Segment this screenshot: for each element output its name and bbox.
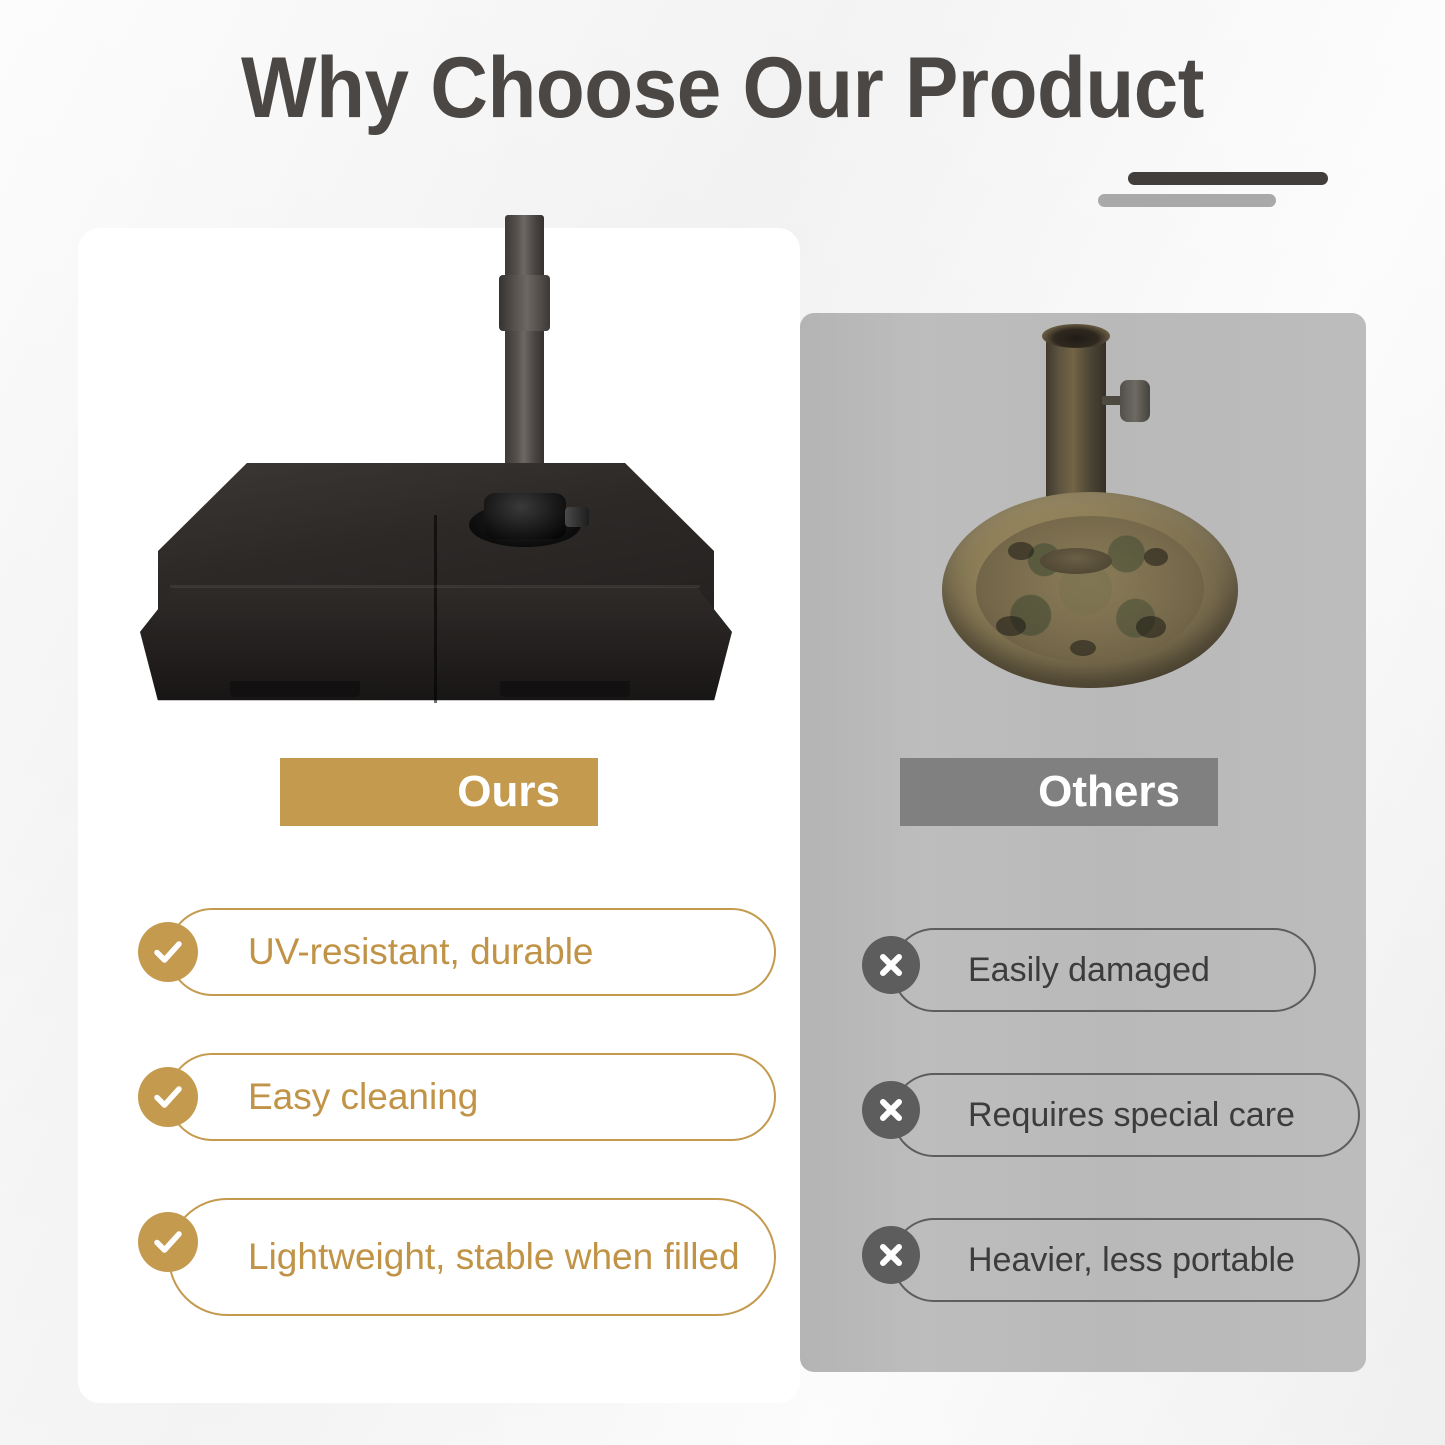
ours-banner-label: Ours	[457, 767, 560, 817]
thumb-screw-knob	[1120, 380, 1150, 422]
others-feature-label: Easily damaged	[968, 950, 1210, 990]
ours-feature-row[interactable]: UV-resistant, durable	[138, 908, 776, 996]
x-icon	[862, 936, 920, 994]
others-banner: Others	[900, 758, 1218, 826]
ours-product-image	[110, 215, 770, 705]
others-feature-row[interactable]: Requires special care	[862, 1073, 1360, 1157]
page-title: Why Choose Our Product	[51, 45, 1395, 131]
check-icon	[138, 1212, 198, 1272]
decorative-bar-dark	[1128, 172, 1328, 185]
ours-feature-label: UV-resistant, durable	[248, 930, 594, 974]
x-icon	[862, 1226, 920, 1284]
base-seam-horizontal	[170, 585, 700, 588]
others-feature-label: Requires special care	[968, 1095, 1295, 1135]
iron-cutout	[996, 616, 1026, 636]
ours-feature-row[interactable]: Easy cleaning	[138, 1053, 776, 1141]
others-product-image	[930, 320, 1250, 710]
others-feature-pill: Easily damaged	[892, 928, 1316, 1012]
x-icon	[862, 1081, 920, 1139]
base-hub-knob	[565, 507, 589, 527]
others-banner-label: Others	[1038, 767, 1180, 817]
cast-iron-floral-pattern	[976, 516, 1204, 662]
base-foot	[500, 681, 630, 697]
base-foot	[230, 681, 360, 697]
iron-tube-foot	[1040, 548, 1112, 574]
title-underline-decoration	[1098, 172, 1328, 218]
header: Why Choose Our Product	[0, 0, 1445, 215]
ours-feature-pill: Easy cleaning	[168, 1053, 776, 1141]
iron-cutout	[1144, 548, 1168, 566]
base-seam-vertical	[434, 515, 437, 703]
others-feature-pill: Requires special care	[892, 1073, 1360, 1157]
ours-feature-pill: UV-resistant, durable	[168, 908, 776, 996]
check-icon	[138, 1067, 198, 1127]
ours-feature-label: Easy cleaning	[248, 1075, 478, 1119]
iron-cutout	[1008, 542, 1034, 560]
ours-feature-label: Lightweight, stable when filled	[248, 1235, 740, 1279]
others-feature-label: Heavier, less portable	[968, 1240, 1295, 1280]
iron-tube-rim	[1042, 324, 1110, 348]
ours-feature-row[interactable]: Lightweight, stable when filled	[138, 1198, 776, 1316]
others-feature-row[interactable]: Easily damaged	[862, 928, 1316, 1012]
check-icon	[138, 922, 198, 982]
base-hub	[484, 493, 566, 539]
others-feature-pill: Heavier, less portable	[892, 1218, 1360, 1302]
others-feature-row[interactable]: Heavier, less portable	[862, 1218, 1360, 1302]
ours-banner: Ours	[280, 758, 598, 826]
iron-cutout	[1136, 616, 1166, 638]
decorative-bar-light	[1098, 194, 1276, 207]
others-panel	[800, 313, 1366, 1372]
ours-feature-pill: Lightweight, stable when filled	[168, 1198, 776, 1316]
iron-cutout	[1070, 640, 1096, 656]
pole-collar	[499, 275, 550, 331]
